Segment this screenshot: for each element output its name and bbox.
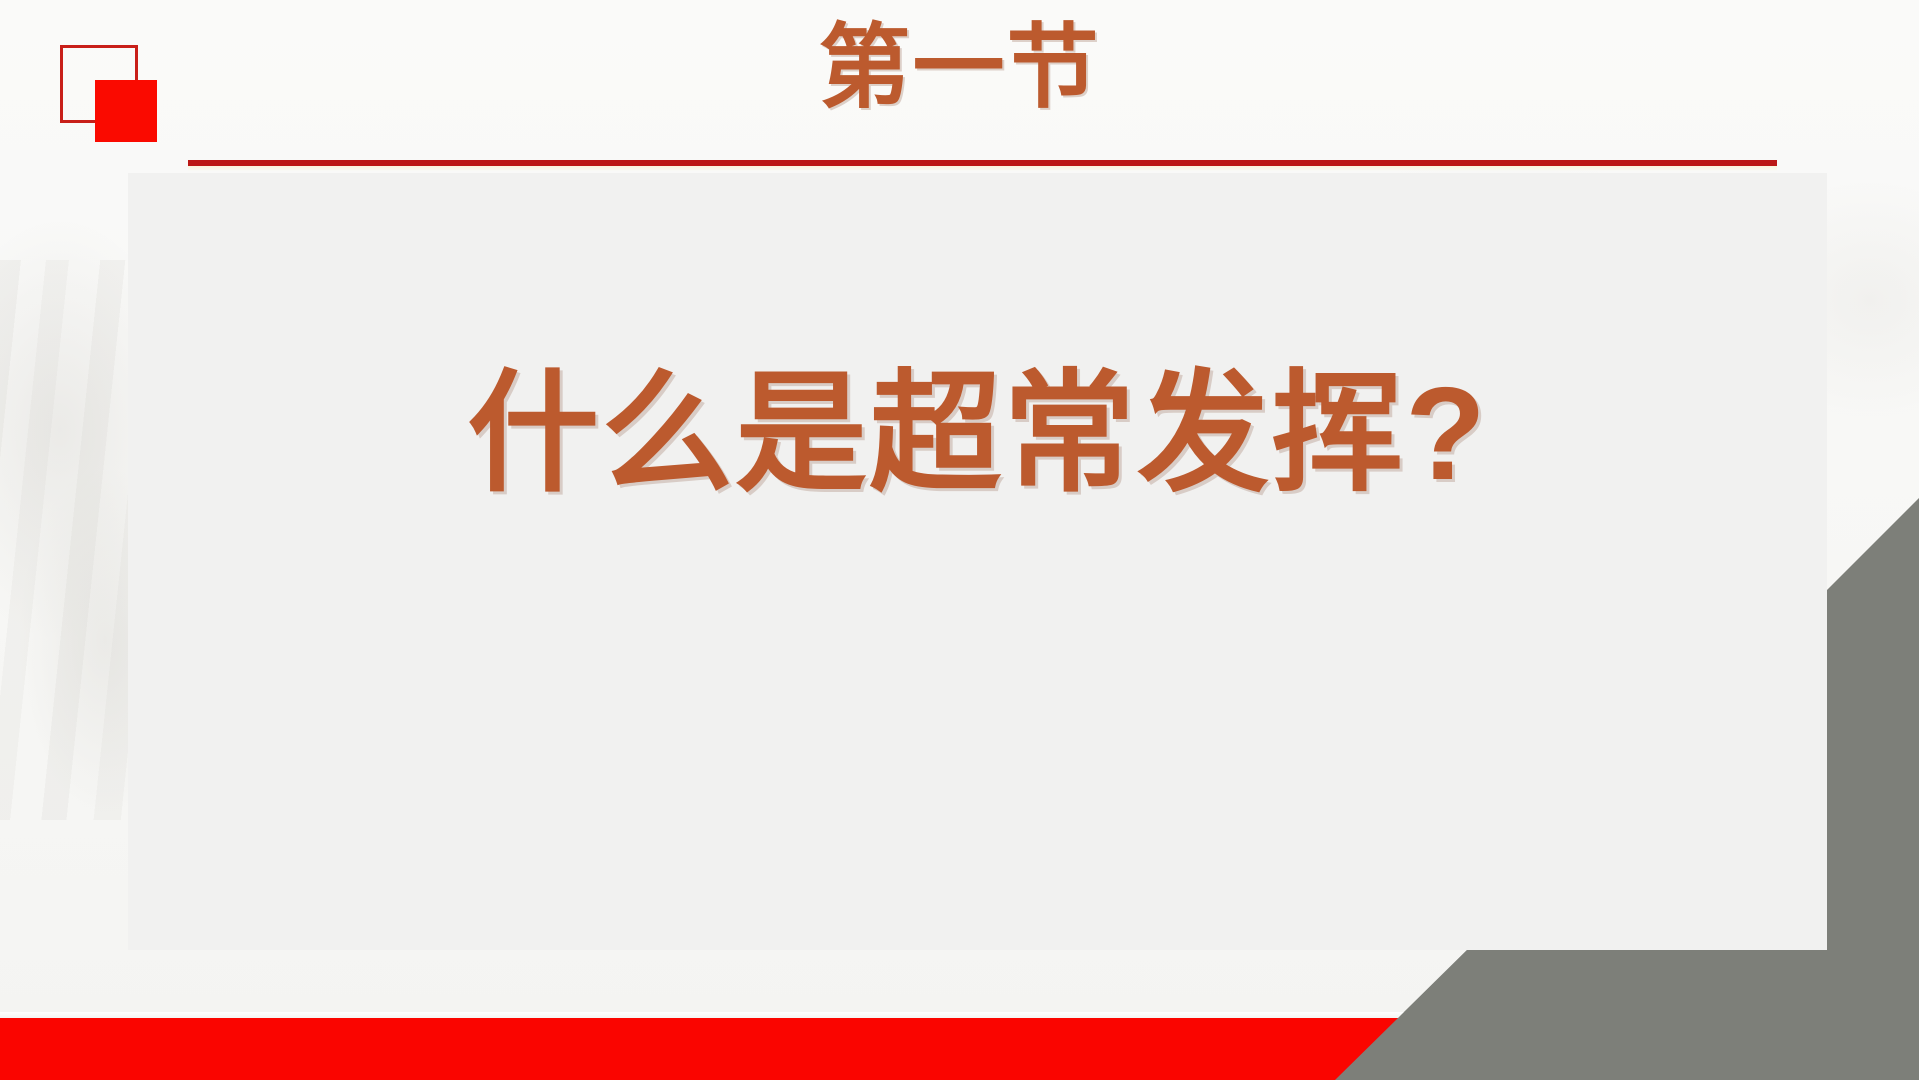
page-title: 什么是超常发挥? — [128, 355, 1827, 513]
content-panel — [128, 173, 1827, 950]
horizontal-red-rule-glow — [188, 166, 1777, 171]
horizontal-red-rule — [188, 160, 1777, 166]
red-footer-bar — [0, 1018, 1919, 1080]
section-title: 第一节 — [0, 20, 1919, 117]
slide-canvas: 第一节 什么是超常发挥? — [0, 0, 1919, 1080]
